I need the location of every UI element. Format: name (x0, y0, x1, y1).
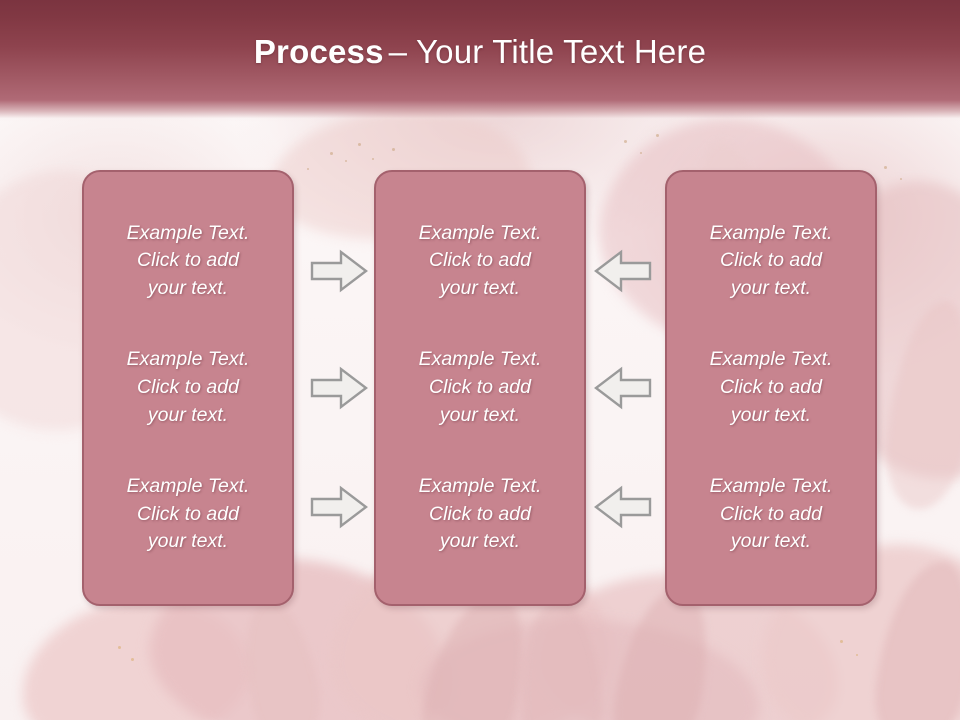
text-placeholder[interactable]: Example Text. Click to add your text. (94, 220, 282, 303)
process-column-3[interactable]: Example Text. Click to add your text. Ex… (665, 170, 877, 606)
text-placeholder[interactable]: Example Text. Click to add your text. (94, 473, 282, 556)
text-placeholder[interactable]: Example Text. Click to add your text. (677, 346, 865, 429)
presentation-slide: Process – Your Title Text Here Example T… (0, 0, 960, 720)
text-placeholder[interactable]: Example Text. Click to add your text. (94, 346, 282, 429)
process-column-1[interactable]: Example Text. Click to add your text. Ex… (82, 170, 294, 606)
text-placeholder[interactable]: Example Text. Click to add your text. (386, 346, 574, 429)
text-placeholder[interactable]: Example Text. Click to add your text. (677, 220, 865, 303)
arrow-left-icon[interactable] (594, 366, 652, 410)
arrow-right-icon[interactable] (310, 366, 368, 410)
process-column-2[interactable]: Example Text. Click to add your text. Ex… (374, 170, 586, 606)
text-placeholder[interactable]: Example Text. Click to add your text. (677, 473, 865, 556)
arrow-left-icon[interactable] (594, 485, 652, 529)
text-placeholder[interactable]: Example Text. Click to add your text. (386, 473, 574, 556)
arrow-right-icon[interactable] (310, 249, 368, 293)
arrow-left-icon[interactable] (594, 249, 652, 293)
arrow-right-icon[interactable] (310, 485, 368, 529)
text-placeholder[interactable]: Example Text. Click to add your text. (386, 220, 574, 303)
process-diagram: Example Text. Click to add your text. Ex… (0, 0, 960, 720)
